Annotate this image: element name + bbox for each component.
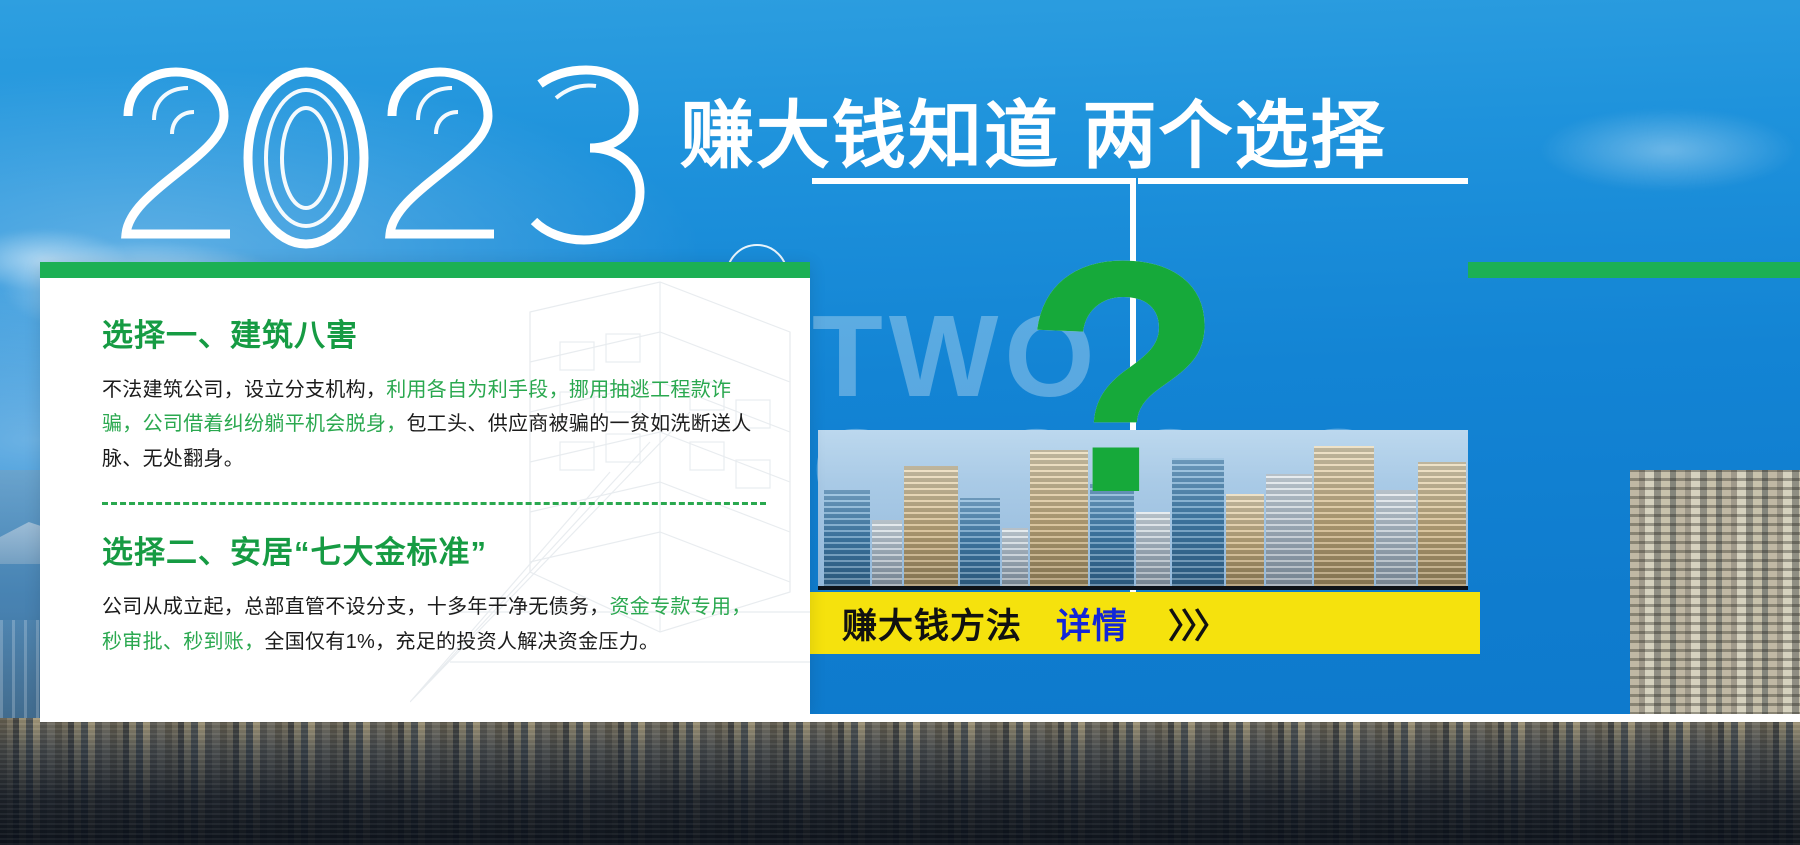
chevron-right-icon: 〉〉〉 bbox=[1168, 599, 1224, 648]
section-2-part-3: 全国仅有1%，充足的投资人解决资金压力。 bbox=[264, 631, 659, 653]
content-panel: 选择一、建筑八害 不法建筑公司，设立分支机构，利用各自为利手段，挪用抽逃工程款诈… bbox=[40, 262, 810, 714]
panel-section-2: 选择二、安居“七大金标准” 公司从成立起，总部直管不设分支，十多年干净无债务，资… bbox=[102, 527, 766, 659]
green-accent-bar bbox=[1468, 262, 1800, 278]
cloud-right bbox=[1470, 60, 1800, 240]
section-divider bbox=[102, 502, 766, 505]
cta-button[interactable]: 赚大钱方法 详情 〉〉〉 bbox=[808, 592, 1480, 654]
question-mark-icon: ? bbox=[1022, 212, 1224, 542]
section-1-body: 不法建筑公司，设立分支机构，利用各自为利手段，挪用抽逃工程款诈骗，公司借着纠纷躺… bbox=[102, 373, 766, 476]
bottom-white-band bbox=[40, 714, 1800, 722]
headline-rule-left bbox=[812, 178, 1130, 184]
section-2-title: 选择二、安居“七大金标准” bbox=[102, 527, 766, 572]
section-1-part-1: 不法建筑公司，设立分支机构， bbox=[102, 379, 386, 401]
panel-section-1: 选择一、建筑八害 不法建筑公司，设立分支机构，利用各自为利手段，挪用抽逃工程款诈… bbox=[102, 310, 766, 476]
section-2-part-1: 公司从成立起，总部直管不设分支，十多年干净无债务， bbox=[102, 596, 610, 618]
page-title: 赚大钱知道 两个选择 bbox=[680, 76, 1387, 183]
cta-link-label[interactable]: 详情 bbox=[1056, 598, 1128, 649]
section-1-title: 选择一、建筑八害 bbox=[102, 310, 766, 355]
bottom-photo-strip bbox=[0, 718, 1800, 845]
cta-label: 赚大钱方法 bbox=[842, 598, 1022, 649]
headline-rule-right bbox=[1138, 178, 1468, 184]
section-2-body: 公司从成立起，总部直管不设分支，十多年干净无债务，资金专款专用，秒审批、秒到账，… bbox=[102, 590, 766, 659]
poster-stage: 年 赚大钱知道 两个选择 TWO CHOICES ? 赚大钱方法 详情 〉〉〉 bbox=[0, 0, 1800, 845]
